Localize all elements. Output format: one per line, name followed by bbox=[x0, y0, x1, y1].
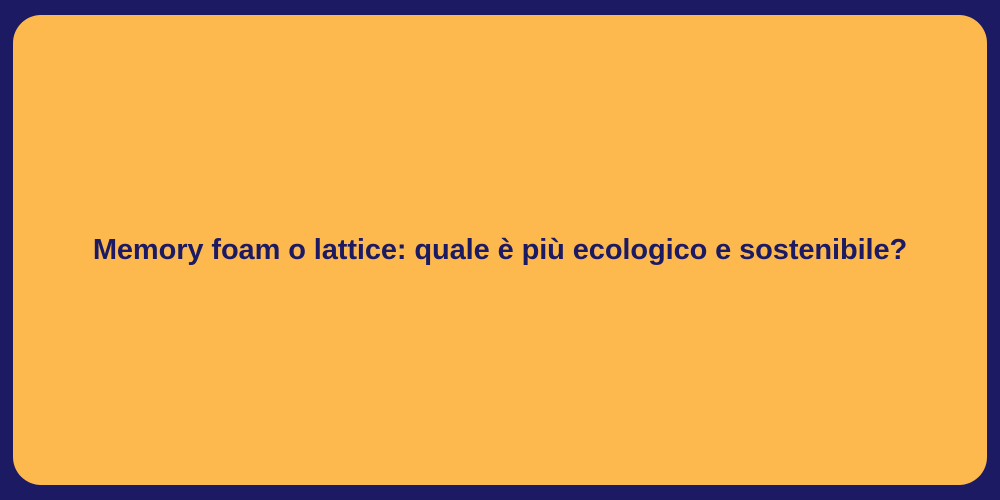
article-card-panel: Memory foam o lattice: quale è più ecolo… bbox=[13, 15, 987, 485]
article-card-frame: Memory foam o lattice: quale è più ecolo… bbox=[0, 0, 1000, 500]
article-title: Memory foam o lattice: quale è più ecolo… bbox=[93, 232, 907, 268]
